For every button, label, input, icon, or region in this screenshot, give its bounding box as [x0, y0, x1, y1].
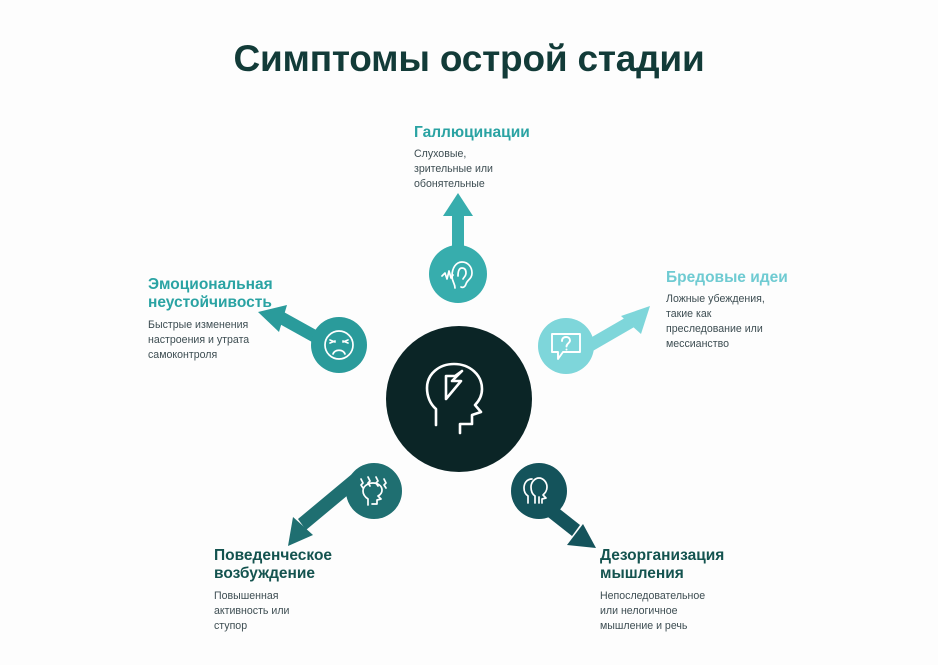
label-title-emotional-instability: Эмоциональная неустойчивость: [148, 276, 293, 313]
label-block-hallucinations: Галлюцинации Слуховые, зрительные или об…: [414, 124, 614, 192]
agitated-head-icon: [357, 474, 391, 508]
node-emotional-instability[interactable]: [311, 317, 367, 373]
label-title-hallucinations: Галлюцинации: [414, 124, 614, 142]
label-desc-hallucinations: Слуховые, зрительные или обонятельные: [414, 147, 614, 192]
label-title-behavioral-agitation: Поведенческое возбуждение: [214, 547, 389, 584]
label-desc-behavioral-agitation: Повышенная активность или ступор: [214, 589, 389, 634]
head-with-lightning-bolt-icon: [424, 361, 494, 437]
ear-with-soundwave-icon: [441, 257, 475, 291]
label-block-delusions: Бредовые идеи Ложные убеждения, такие ка…: [666, 269, 836, 352]
label-title-disorganized-thinking: Дезорганизация мышления: [600, 547, 790, 584]
label-desc-disorganized-thinking: Непоследовательное или нелогичное мышлен…: [600, 589, 790, 634]
label-desc-emotional-instability: Быстрые изменения настроения и утрата са…: [148, 318, 293, 363]
label-desc-delusions: Ложные убеждения, такие как преследовани…: [666, 292, 836, 352]
question-speech-bubble-icon: [549, 330, 583, 362]
sad-face-icon: [322, 328, 356, 362]
node-hallucinations[interactable]: [429, 245, 487, 303]
node-disorganized-thinking[interactable]: [511, 463, 567, 519]
node-delusions[interactable]: [538, 318, 594, 374]
infographic-canvas: Симптомы острой стадии: [0, 0, 938, 665]
node-behavioral-agitation[interactable]: [346, 463, 402, 519]
multiple-heads-icon: [522, 476, 556, 506]
label-title-delusions: Бредовые идеи: [666, 269, 836, 287]
label-block-disorganized-thinking: Дезорганизация мышления Непоследовательн…: [600, 547, 790, 634]
label-block-emotional-instability: Эмоциональная неустойчивость Быстрые изм…: [148, 276, 293, 363]
label-block-behavioral-agitation: Поведенческое возбуждение Повышенная акт…: [214, 547, 389, 634]
center-node: [386, 326, 532, 472]
